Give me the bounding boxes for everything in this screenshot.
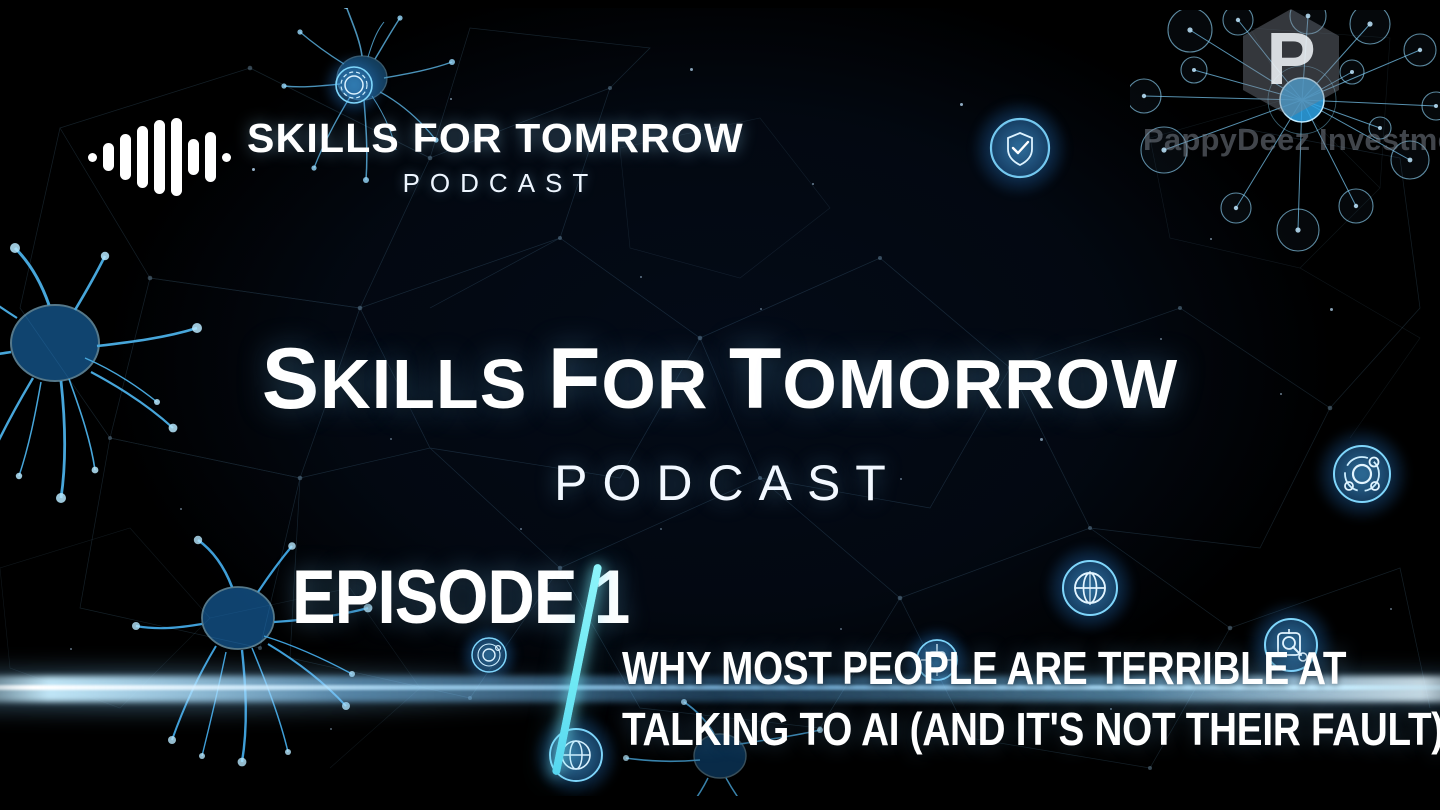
podcast-cover-canvas: SKILLS FOR TOMRROW PODCAST SKILLS FOR TO… xyxy=(0,0,1440,810)
episode-title-line-1: WHY MOST PEOPLE ARE TERRIBLE AT xyxy=(622,638,1244,699)
waveform-bar xyxy=(188,139,199,175)
gear-ring-icon xyxy=(333,64,375,106)
brand-logo-subtitle: PODCAST xyxy=(403,170,599,196)
waveform-bar xyxy=(154,120,165,194)
page-title-f: F xyxy=(548,331,602,427)
page-title-s: S xyxy=(262,331,320,427)
waveform-bar xyxy=(137,126,148,188)
waveform-bar xyxy=(120,134,131,180)
audio-waveform-icon xyxy=(88,118,231,196)
waveform-dot xyxy=(88,153,97,162)
brand-logo: SKILLS FOR TOMRROW PODCAST xyxy=(88,118,744,196)
letterbox-bottom xyxy=(0,796,1440,810)
waveform-bar xyxy=(205,132,216,182)
page-title-kills: KILLS xyxy=(320,345,548,423)
watermark-logo-letter: P xyxy=(1243,20,1339,98)
page-title: SKILLS FOR TOMORROW xyxy=(0,336,1440,422)
globe-icon xyxy=(1059,557,1121,619)
waveform-dot xyxy=(222,153,231,162)
page-title-t: T xyxy=(729,331,783,427)
page-title-omorrow: OMORROW xyxy=(782,345,1178,423)
page-subtitle: PODCAST xyxy=(0,458,1440,508)
waveform-bar xyxy=(103,143,114,171)
waveform-bar xyxy=(171,118,182,196)
episode-title: WHY MOST PEOPLE ARE TERRIBLE AT TALKING … xyxy=(622,638,1244,759)
letterbox-top xyxy=(0,0,1440,8)
shield-check-icon xyxy=(987,115,1053,181)
page-title-or: OR xyxy=(601,345,728,423)
brand-logo-title: SKILLS FOR TOMRROW xyxy=(247,118,744,159)
episode-number-label: EPISODE 1 xyxy=(292,560,629,636)
watermark-text: PappyDeez Investments xyxy=(1143,122,1440,158)
episode-title-line-2: TALKING TO AI (AND IT'S NOT THEIR FAULT) xyxy=(622,699,1244,760)
